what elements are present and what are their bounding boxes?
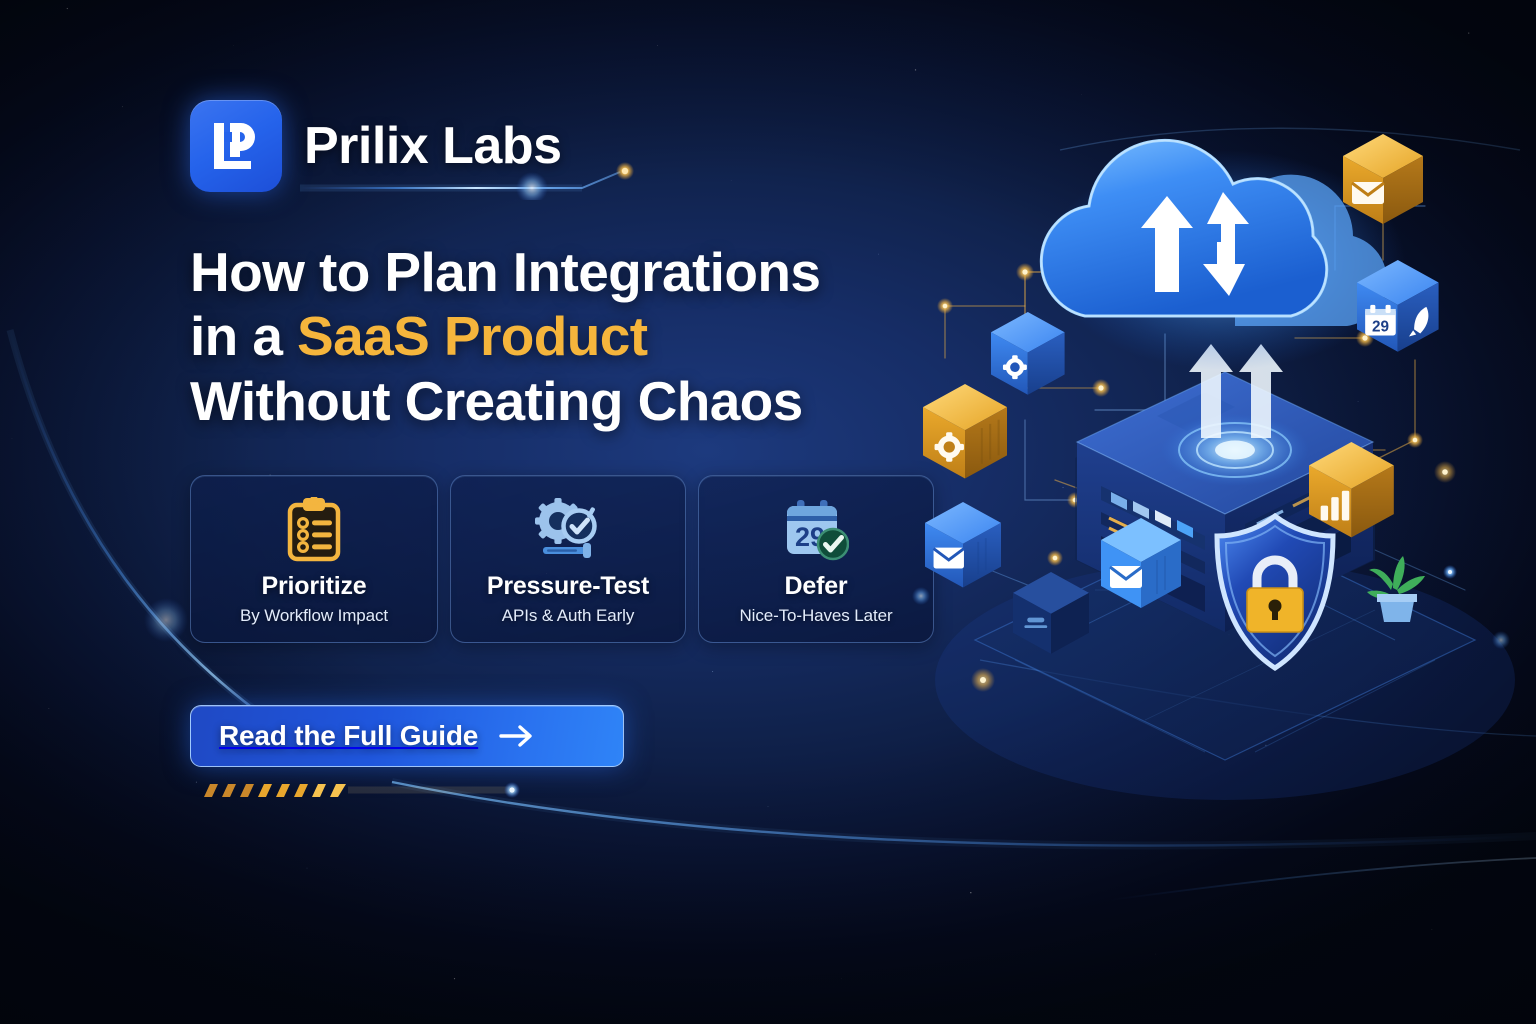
feature-card-defer[interactable]: 29 Defer Nice-To-Haves Later <box>698 475 934 643</box>
cube-calendar-day: 29 <box>1372 318 1389 335</box>
headline-line-2: in a SaaS Product <box>190 304 950 368</box>
hero-banner: Prilix Labs How to Plan Integrations in … <box>0 0 1536 1024</box>
cta-accent-stripe <box>198 779 618 801</box>
clipboard-checklist-icon <box>284 495 344 565</box>
feature-card-subtitle: Nice-To-Haves Later <box>739 606 892 626</box>
node-cube-envelope-blue <box>925 502 1001 588</box>
pl-monogram-glyph <box>208 118 264 174</box>
feature-card-title: Pressure-Test <box>487 572 649 601</box>
node-cube-gear-blue <box>991 312 1065 395</box>
prilix-monogram-icon <box>190 100 282 192</box>
feature-card-title: Prioritize <box>262 572 367 601</box>
node-cube-gear-gold <box>923 384 1007 479</box>
feature-card-subtitle: By Workflow Impact <box>240 606 388 626</box>
brand-name: Prilix Labs <box>304 116 562 176</box>
gear-magnifier-check-icon <box>531 495 605 565</box>
feature-card-subtitle: APIs & Auth Early <box>502 606 634 626</box>
feature-card-prioritize[interactable]: Prioritize By Workflow Impact <box>190 475 438 643</box>
feature-card-title: Defer <box>785 572 848 601</box>
headline-line-2-prefix: in a <box>190 305 297 367</box>
headline-line-1: How to Plan Integrations <box>190 240 950 304</box>
integration-illustration: 29 <box>905 120 1525 880</box>
headline-line-3: Without Creating Chaos <box>190 369 950 433</box>
cta-area: Read the Full Guide <box>190 705 630 767</box>
hero-content: Prilix Labs How to Plan Integrations in … <box>190 100 950 767</box>
cta-label: Read the Full Guide <box>219 720 478 752</box>
feature-cards: Prioritize By Workflow Impact <box>190 475 950 643</box>
page-title: How to Plan Integrations in a SaaS Produ… <box>190 240 950 433</box>
read-full-guide-button[interactable]: Read the Full Guide <box>190 705 624 767</box>
calendar-check-icon: 29 <box>783 495 849 565</box>
headline-accent: SaaS Product <box>297 305 647 367</box>
arrow-right-icon <box>498 723 536 749</box>
brand-logo[interactable]: Prilix Labs <box>190 100 950 192</box>
feature-card-pressure-test[interactable]: Pressure-Test APIs & Auth Early <box>450 475 686 643</box>
